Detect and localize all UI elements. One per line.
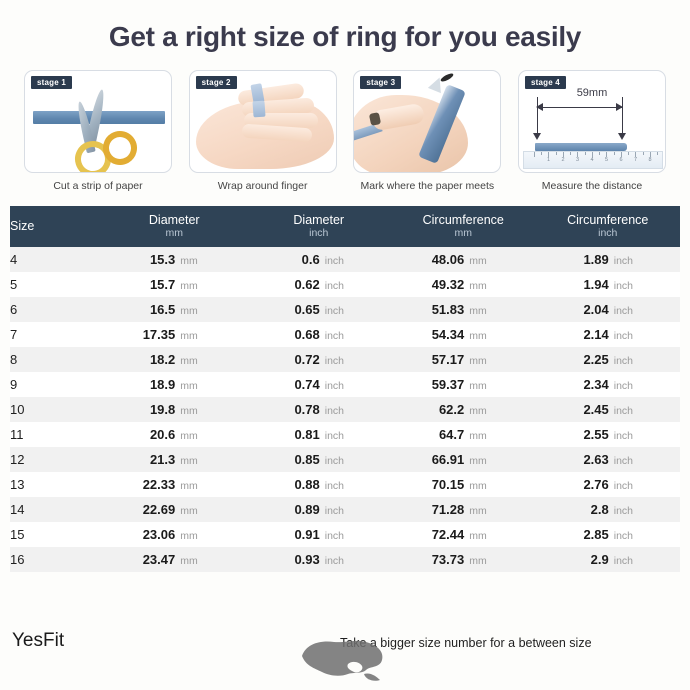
value-unit-pair: 2.55inch	[565, 427, 651, 442]
cell-diameter-mm: 17.35mm	[102, 322, 247, 347]
value-unit-pair: 0.89inch	[276, 502, 362, 517]
value-unit: inch	[325, 305, 344, 317]
cell-diameter-mm: 23.47mm	[102, 547, 247, 572]
value-unit-pair: 21.3mm	[131, 452, 217, 467]
value-number: 17.35	[131, 327, 175, 342]
cell-diameter-mm: 23.06mm	[102, 522, 247, 547]
value-number: 2.8	[565, 502, 609, 517]
table-row: 515.7mm0.62inch49.32mm1.94inch	[10, 272, 680, 297]
value-unit: inch	[325, 455, 344, 467]
value-unit-pair: 22.33mm	[131, 477, 217, 492]
stage-3-illustration: stage 3	[353, 70, 501, 173]
table-row: 818.2mm0.72inch57.17mm2.25inch	[10, 347, 680, 372]
cell-size: 16	[10, 547, 102, 572]
column-header-size: Size	[10, 206, 102, 247]
stage-1-illustration: stage 1	[24, 70, 172, 173]
value-number: 23.47	[131, 552, 175, 567]
value-unit: inch	[614, 555, 633, 567]
value-number: 23.06	[131, 527, 175, 542]
value-unit: inch	[325, 355, 344, 367]
ring-size-guide-page: Get a right size of ring for you easily …	[0, 0, 690, 690]
ruler-tick	[592, 152, 593, 157]
cell-circumference-inch: 2.85inch	[536, 522, 681, 547]
ruler-tick-marks: 12345678	[524, 152, 662, 170]
ruler-tick-minor	[556, 152, 557, 155]
value-unit: mm	[180, 305, 198, 317]
cell-diameter-mm: 21.3mm	[102, 447, 247, 472]
value-unit-pair: 66.91mm	[420, 452, 506, 467]
value-number: 0.65	[276, 302, 320, 317]
column-header-diameter-mm-unit: mm	[102, 227, 247, 239]
value-unit-pair: 72.44mm	[420, 527, 506, 542]
stage-card-4: stage 4 59mm 12345678 Measure the dis	[518, 70, 666, 192]
value-number: 22.69	[131, 502, 175, 517]
column-header-circumference-inch-label: Circumference	[536, 213, 681, 227]
pen-mark-stroke	[440, 72, 455, 83]
cell-circumference-inch: 2.25inch	[536, 347, 681, 372]
value-number: 2.85	[565, 527, 609, 542]
value-number: 48.06	[420, 252, 464, 267]
value-unit: mm	[469, 430, 487, 442]
value-number: 18.9	[131, 377, 175, 392]
value-unit: mm	[469, 255, 487, 267]
ruler-tick-label: 8	[648, 157, 651, 163]
value-number: 2.14	[565, 327, 609, 342]
value-unit-pair: 2.04inch	[565, 302, 651, 317]
value-number: 73.73	[420, 552, 464, 567]
stage-cards-row: stage 1 Cut a strip of paper stage 2	[0, 54, 690, 192]
value-number: 1.89	[565, 252, 609, 267]
stage-card-1: stage 1 Cut a strip of paper	[24, 70, 172, 192]
value-number: 54.34	[420, 327, 464, 342]
cell-diameter-inch: 0.74inch	[247, 372, 392, 397]
value-unit: mm	[469, 355, 487, 367]
value-unit-pair: 2.76inch	[565, 477, 651, 492]
value-unit-pair: 0.78inch	[276, 402, 362, 417]
value-number: 66.91	[420, 452, 464, 467]
extension-line-right	[622, 97, 623, 135]
size-table-container: Size Diameter mm Diameter inch Circumfer…	[10, 206, 680, 572]
wrapped-paper-bottom	[252, 100, 265, 117]
cell-size: 5	[10, 272, 102, 297]
stage-3-badge: stage 3	[360, 76, 401, 89]
column-header-diameter-inch-unit: inch	[247, 227, 392, 239]
value-unit-pair: 54.34mm	[420, 327, 506, 342]
table-row: 918.9mm0.74inch59.37mm2.34inch	[10, 372, 680, 397]
table-row: 1422.69mm0.89inch71.28mm2.8inch	[10, 497, 680, 522]
value-number: 57.17	[420, 352, 464, 367]
value-number: 2.04	[565, 302, 609, 317]
value-unit: inch	[325, 555, 344, 567]
value-number: 0.78	[276, 402, 320, 417]
ruler-tick-minor	[585, 152, 586, 155]
value-unit: inch	[614, 430, 633, 442]
table-row: 1623.47mm0.93inch73.73mm2.9inch	[10, 547, 680, 572]
ruler-tick-minor	[599, 152, 600, 155]
value-unit: mm	[469, 380, 487, 392]
stage-1-caption: Cut a strip of paper	[53, 180, 142, 192]
value-unit: mm	[469, 530, 487, 542]
value-number: 18.2	[131, 352, 175, 367]
cell-circumference-mm: 66.91mm	[391, 447, 536, 472]
cell-diameter-inch: 0.88inch	[247, 472, 392, 497]
value-number: 0.62	[276, 277, 320, 292]
value-number: 22.33	[131, 477, 175, 492]
value-unit: inch	[614, 305, 633, 317]
cell-diameter-inch: 0.78inch	[247, 397, 392, 422]
ruler-tick-minor	[541, 152, 542, 155]
value-unit-pair: 23.47mm	[131, 552, 217, 567]
column-header-circumference-inch-unit: inch	[536, 227, 681, 239]
value-unit-pair: 0.85inch	[276, 452, 362, 467]
value-unit: mm	[180, 330, 198, 342]
value-unit: inch	[325, 330, 344, 342]
cell-circumference-inch: 2.34inch	[536, 372, 681, 397]
value-number: 0.88	[276, 477, 320, 492]
value-unit-pair: 2.14inch	[565, 327, 651, 342]
value-unit-pair: 20.6mm	[131, 427, 217, 442]
ruler-tick	[534, 152, 535, 157]
value-unit-pair: 2.8inch	[565, 502, 651, 517]
table-row: 1019.8mm0.78inch62.2mm2.45inch	[10, 397, 680, 422]
cell-diameter-mm: 19.8mm	[102, 397, 247, 422]
value-number: 49.32	[420, 277, 464, 292]
cell-diameter-inch: 0.85inch	[247, 447, 392, 472]
value-unit: inch	[614, 280, 633, 292]
value-unit: mm	[180, 405, 198, 417]
ruler-tick-minor	[570, 152, 571, 155]
value-unit: inch	[325, 405, 344, 417]
value-number: 2.9	[565, 552, 609, 567]
value-unit: inch	[325, 480, 344, 492]
value-unit-pair: 22.69mm	[131, 502, 217, 517]
cell-circumference-mm: 48.06mm	[391, 247, 536, 272]
value-unit: inch	[614, 530, 633, 542]
value-unit: mm	[180, 380, 198, 392]
cell-size: 13	[10, 472, 102, 497]
cell-circumference-inch: 2.04inch	[536, 297, 681, 322]
ruler-tick-label: 2	[561, 157, 564, 163]
ruler-tick	[548, 152, 549, 157]
value-unit-pair: 0.72inch	[276, 352, 362, 367]
value-unit-pair: 64.7mm	[420, 427, 506, 442]
cell-circumference-inch: 2.9inch	[536, 547, 681, 572]
cell-circumference-mm: 64.7mm	[391, 422, 536, 447]
value-unit: mm	[469, 405, 487, 417]
value-unit: mm	[469, 455, 487, 467]
value-unit: mm	[469, 555, 487, 567]
value-unit: mm	[180, 455, 198, 467]
column-header-circumference-mm-label: Circumference	[391, 213, 536, 227]
table-body: 415.3mm0.6inch48.06mm1.89inch515.7mm0.62…	[10, 247, 680, 572]
value-unit-pair: 48.06mm	[420, 252, 506, 267]
ruler-tick-label: 5	[605, 157, 608, 163]
value-number: 0.85	[276, 452, 320, 467]
cell-circumference-inch: 1.94inch	[536, 272, 681, 297]
cell-circumference-mm: 72.44mm	[391, 522, 536, 547]
cell-circumference-mm: 62.2mm	[391, 397, 536, 422]
stage-4-badge: stage 4	[525, 76, 566, 89]
cell-diameter-inch: 0.91inch	[247, 522, 392, 547]
down-arrow-right-icon	[618, 133, 626, 140]
value-unit-pair: 59.37mm	[420, 377, 506, 392]
ruler-tick	[621, 152, 622, 157]
ruler-tick-minor	[643, 152, 644, 155]
ruler-tick-label: 4	[590, 157, 593, 163]
value-number: 59.37	[420, 377, 464, 392]
value-unit: mm	[180, 480, 198, 492]
cell-diameter-inch: 0.68inch	[247, 322, 392, 347]
value-number: 51.83	[420, 302, 464, 317]
value-number: 1.94	[565, 277, 609, 292]
value-unit-pair: 0.6inch	[276, 252, 362, 267]
value-number: 0.89	[276, 502, 320, 517]
value-unit: inch	[325, 530, 344, 542]
value-unit-pair: 2.63inch	[565, 452, 651, 467]
value-number: 0.68	[276, 327, 320, 342]
stage-2-illustration: stage 2	[189, 70, 337, 173]
value-unit-pair: 2.25inch	[565, 352, 651, 367]
table-row: 415.3mm0.6inch48.06mm1.89inch	[10, 247, 680, 272]
value-unit-pair: 23.06mm	[131, 527, 217, 542]
value-number: 72.44	[420, 527, 464, 542]
cell-circumference-inch: 2.45inch	[536, 397, 681, 422]
value-unit: inch	[614, 355, 633, 367]
cell-diameter-mm: 22.33mm	[102, 472, 247, 497]
value-unit: mm	[469, 330, 487, 342]
value-unit-pair: 15.7mm	[131, 277, 217, 292]
value-unit: inch	[614, 455, 633, 467]
value-unit-pair: 73.73mm	[420, 552, 506, 567]
value-unit-pair: 1.94inch	[565, 277, 651, 292]
value-unit-pair: 0.62inch	[276, 277, 362, 292]
value-unit-pair: 2.9inch	[565, 552, 651, 567]
cell-circumference-inch: 1.89inch	[536, 247, 681, 272]
value-number: 2.25	[565, 352, 609, 367]
ruler-tick	[635, 152, 636, 157]
value-unit: inch	[614, 405, 633, 417]
extension-line-left	[537, 97, 538, 135]
value-unit: inch	[325, 380, 344, 392]
footer: YesFit Take a bigger size number for a b…	[0, 628, 690, 668]
down-arrow-left-icon	[533, 133, 541, 140]
value-unit: inch	[614, 255, 633, 267]
cell-size: 8	[10, 347, 102, 372]
value-number: 20.6	[131, 427, 175, 442]
value-unit: inch	[614, 330, 633, 342]
value-unit: mm	[180, 530, 198, 542]
cell-circumference-inch: 2.8inch	[536, 497, 681, 522]
table-header: Size Diameter mm Diameter inch Circumfer…	[10, 206, 680, 247]
cell-diameter-inch: 0.6inch	[247, 247, 392, 272]
ruler-tick-label: 6	[619, 157, 622, 163]
value-unit: inch	[325, 505, 344, 517]
value-unit-pair: 0.74inch	[276, 377, 362, 392]
value-number: 2.34	[565, 377, 609, 392]
table-row: 616.5mm0.65inch51.83mm2.04inch	[10, 297, 680, 322]
column-header-size-label: Size	[10, 219, 102, 233]
cell-circumference-mm: 59.37mm	[391, 372, 536, 397]
ruler-tick-label: 1	[547, 157, 550, 163]
value-unit: inch	[325, 280, 344, 292]
value-unit-pair: 18.9mm	[131, 377, 217, 392]
column-header-circumference-mm: Circumference mm	[391, 206, 536, 247]
cell-diameter-mm: 16.5mm	[102, 297, 247, 322]
value-number: 0.74	[276, 377, 320, 392]
value-unit-pair: 71.28mm	[420, 502, 506, 517]
stage-3-caption: Mark where the paper meets	[360, 180, 494, 192]
value-unit: mm	[180, 280, 198, 292]
value-number: 15.7	[131, 277, 175, 292]
value-number: 2.45	[565, 402, 609, 417]
value-number: 0.81	[276, 427, 320, 442]
cell-circumference-inch: 2.76inch	[536, 472, 681, 497]
stage-card-2: stage 2 Wrap around finger	[189, 70, 337, 192]
cell-size: 4	[10, 247, 102, 272]
value-unit: mm	[180, 555, 198, 567]
value-number: 15.3	[131, 252, 175, 267]
value-unit-pair: 19.8mm	[131, 402, 217, 417]
value-number: 0.72	[276, 352, 320, 367]
stage-4-caption: Measure the distance	[542, 180, 642, 192]
table-row: 717.35mm0.68inch54.34mm2.14inch	[10, 322, 680, 347]
ruler-tick	[650, 152, 651, 157]
decorative-blob-shape	[296, 630, 406, 682]
value-number: 0.6	[276, 252, 320, 267]
ruler-tick-minor	[657, 152, 658, 155]
cell-circumference-mm: 70.15mm	[391, 472, 536, 497]
ruler-tick-minor	[614, 152, 615, 155]
cell-circumference-mm: 73.73mm	[391, 547, 536, 572]
value-unit-pair: 18.2mm	[131, 352, 217, 367]
value-number: 64.7	[420, 427, 464, 442]
ruler-tick	[563, 152, 564, 157]
cell-diameter-mm: 18.9mm	[102, 372, 247, 397]
cell-circumference-mm: 49.32mm	[391, 272, 536, 297]
ring-size-table: Size Diameter mm Diameter inch Circumfer…	[10, 206, 680, 572]
column-header-diameter-inch: Diameter inch	[247, 206, 392, 247]
value-unit: mm	[469, 480, 487, 492]
value-number: 2.55	[565, 427, 609, 442]
table-row: 1120.6mm0.81inch64.7mm2.55inch	[10, 422, 680, 447]
cell-size: 7	[10, 322, 102, 347]
cell-circumference-mm: 71.28mm	[391, 497, 536, 522]
value-unit-pair: 0.65inch	[276, 302, 362, 317]
cell-size: 9	[10, 372, 102, 397]
cell-diameter-mm: 18.2mm	[102, 347, 247, 372]
value-unit-pair: 1.89inch	[565, 252, 651, 267]
value-unit: inch	[614, 505, 633, 517]
value-unit: mm	[469, 505, 487, 517]
value-unit-pair: 0.81inch	[276, 427, 362, 442]
stage-4-illustration: stage 4 59mm 12345678	[518, 70, 666, 173]
cell-diameter-inch: 0.72inch	[247, 347, 392, 372]
value-number: 19.8	[131, 402, 175, 417]
ruler-tick-minor	[628, 152, 629, 155]
value-unit-pair: 49.32mm	[420, 277, 506, 292]
cell-circumference-inch: 2.63inch	[536, 447, 681, 472]
value-unit: mm	[469, 305, 487, 317]
cell-diameter-mm: 22.69mm	[102, 497, 247, 522]
value-unit-pair: 16.5mm	[131, 302, 217, 317]
value-unit-pair: 0.91inch	[276, 527, 362, 542]
cell-diameter-mm: 20.6mm	[102, 422, 247, 447]
cell-size: 6	[10, 297, 102, 322]
stage-2-caption: Wrap around finger	[218, 180, 308, 192]
value-unit-pair: 0.93inch	[276, 552, 362, 567]
page-title: Get a right size of ring for you easily	[0, 0, 690, 54]
stage-2-badge: stage 2	[196, 76, 237, 89]
value-unit-pair: 0.88inch	[276, 477, 362, 492]
value-number: 2.76	[565, 477, 609, 492]
value-unit: inch	[325, 430, 344, 442]
value-unit-pair: 15.3mm	[131, 252, 217, 267]
value-unit-pair: 62.2mm	[420, 402, 506, 417]
cell-diameter-mm: 15.3mm	[102, 247, 247, 272]
ruler-tick	[606, 152, 607, 157]
value-unit-pair: 2.85inch	[565, 527, 651, 542]
value-number: 71.28	[420, 502, 464, 517]
value-number: 2.63	[565, 452, 609, 467]
ruler-shape: 12345678	[523, 151, 663, 169]
stage-card-3: stage 3 Mark where the paper meets	[353, 70, 501, 192]
table-row: 1523.06mm0.91inch72.44mm2.85inch	[10, 522, 680, 547]
cell-size: 11	[10, 422, 102, 447]
cell-size: 10	[10, 397, 102, 422]
cell-diameter-mm: 15.7mm	[102, 272, 247, 297]
column-header-circumference-mm-unit: mm	[391, 227, 536, 239]
value-unit-pair: 2.45inch	[565, 402, 651, 417]
table-row: 1221.3mm0.85inch66.91mm2.63inch	[10, 447, 680, 472]
column-header-diameter-mm-label: Diameter	[102, 213, 247, 227]
column-header-diameter-mm: Diameter mm	[102, 206, 247, 247]
dimension-line	[537, 107, 623, 108]
cell-circumference-inch: 2.14inch	[536, 322, 681, 347]
table-row: 1322.33mm0.88inch70.15mm2.76inch	[10, 472, 680, 497]
ruler-tick-label: 7	[634, 157, 637, 163]
value-unit-pair: 0.68inch	[276, 327, 362, 342]
value-unit: inch	[325, 255, 344, 267]
column-header-diameter-inch-label: Diameter	[247, 213, 392, 227]
value-unit-pair: 2.34inch	[565, 377, 651, 392]
value-unit: mm	[469, 280, 487, 292]
value-unit: inch	[614, 480, 633, 492]
cell-diameter-inch: 0.89inch	[247, 497, 392, 522]
brand-logo-text: YesFit	[12, 630, 64, 652]
stage-1-badge: stage 1	[31, 76, 72, 89]
value-number: 0.93	[276, 552, 320, 567]
value-unit: mm	[180, 505, 198, 517]
value-number: 21.3	[131, 452, 175, 467]
value-unit-pair: 51.83mm	[420, 302, 506, 317]
ruler-tick-label: 3	[576, 157, 579, 163]
cell-circumference-mm: 57.17mm	[391, 347, 536, 372]
value-number: 70.15	[420, 477, 464, 492]
value-number: 0.91	[276, 527, 320, 542]
value-unit: mm	[180, 255, 198, 267]
value-unit-pair: 70.15mm	[420, 477, 506, 492]
cell-circumference-mm: 51.83mm	[391, 297, 536, 322]
cell-size: 15	[10, 522, 102, 547]
value-number: 16.5	[131, 302, 175, 317]
cell-circumference-mm: 54.34mm	[391, 322, 536, 347]
cell-size: 12	[10, 447, 102, 472]
cell-circumference-inch: 2.55inch	[536, 422, 681, 447]
cell-diameter-inch: 0.65inch	[247, 297, 392, 322]
value-number: 62.2	[420, 402, 464, 417]
value-unit-pair: 17.35mm	[131, 327, 217, 342]
value-unit: mm	[180, 355, 198, 367]
